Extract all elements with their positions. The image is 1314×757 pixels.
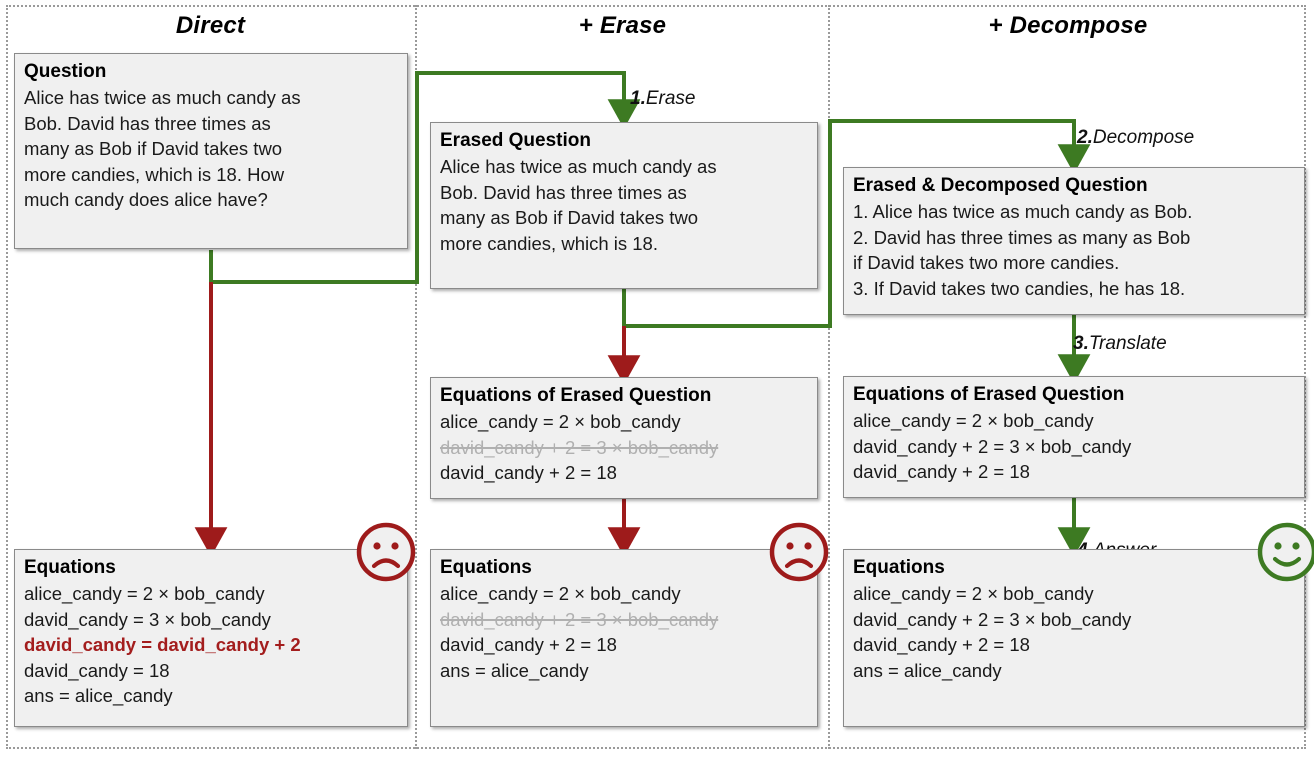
step-number-2: 2. bbox=[1077, 127, 1093, 148]
panel-question-header: Question bbox=[24, 59, 399, 85]
panel-equations-direct-header: Equations bbox=[24, 555, 399, 581]
panel-eq-erased-mid-header: Equations of Erased Question bbox=[440, 383, 809, 409]
panel-question-line: Alice has twice as much candy as bbox=[24, 85, 399, 111]
step-label-decompose: 2.Decompose bbox=[1077, 127, 1194, 149]
panel-erased-decomposed-line: if David takes two more candies. bbox=[853, 250, 1296, 276]
step-name-2: Decompose bbox=[1093, 127, 1194, 148]
step-label-translate: 3.Translate bbox=[1073, 333, 1167, 355]
panel-equations-decompose-header: Equations bbox=[853, 555, 1296, 581]
panel-erased-decomposed-line: 1. Alice has twice as much candy as Bob. bbox=[853, 199, 1296, 225]
equation-line: david_candy + 2 = 3 × bob_candy bbox=[853, 607, 1296, 633]
equation-line: david_candy = 3 × bob_candy bbox=[24, 607, 399, 633]
equation-line: david_candy + 2 = 18 bbox=[853, 632, 1296, 658]
column-title-decompose: + Decompose bbox=[830, 12, 1306, 40]
panel-erased-decomposed-question: Erased & Decomposed Question 1. Alice ha… bbox=[843, 167, 1305, 315]
panel-erased-question-line: Bob. David has three times as bbox=[440, 180, 809, 206]
column-divider-2 bbox=[828, 5, 830, 749]
equation-line: david_candy + 2 = 3 × bob_candy bbox=[853, 434, 1296, 460]
equation-line-struck: david_candy + 2 = 3 × bob_candy bbox=[440, 435, 809, 461]
panel-question-line: many as Bob if David takes two bbox=[24, 136, 399, 162]
panel-erased-decomposed-line: 3. If David takes two candies, he has 18… bbox=[853, 276, 1296, 302]
step-label-erase: 1.Erase bbox=[630, 88, 696, 110]
panel-equations-erase-header: Equations bbox=[440, 555, 809, 581]
equation-line: ans = alice_candy bbox=[440, 658, 809, 684]
equation-line: alice_candy = 2 × bob_candy bbox=[24, 581, 399, 607]
panel-equations-direct: Equations alice_candy = 2 × bob_candy da… bbox=[14, 549, 408, 727]
panel-erased-decomposed-line: 2. David has three times as many as Bob bbox=[853, 225, 1296, 251]
equation-line: david_candy + 2 = 18 bbox=[440, 632, 809, 658]
panel-erased-question-line: many as Bob if David takes two bbox=[440, 205, 809, 231]
panel-equations-of-erased-question-right: Equations of Erased Question alice_candy… bbox=[843, 376, 1305, 498]
panel-erased-question-line: more candies, which is 18. bbox=[440, 231, 809, 257]
equation-line: alice_candy = 2 × bob_candy bbox=[440, 409, 809, 435]
equation-line: david_candy + 2 = 18 bbox=[853, 459, 1296, 485]
step-number-3: 3. bbox=[1073, 333, 1089, 354]
equation-line: david_candy + 2 = 18 bbox=[440, 460, 809, 486]
column-divider-1 bbox=[415, 5, 417, 749]
happy-face-icon bbox=[1256, 521, 1314, 583]
panel-equations-erase: Equations alice_candy = 2 × bob_candy da… bbox=[430, 549, 818, 727]
equation-line: alice_candy = 2 × bob_candy bbox=[853, 581, 1296, 607]
sad-face-icon bbox=[355, 521, 417, 583]
panel-eq-erased-right-header: Equations of Erased Question bbox=[853, 382, 1296, 408]
column-title-direct: Direct bbox=[6, 12, 415, 40]
equation-line-error: david_candy = david_candy + 2 bbox=[24, 632, 399, 658]
panel-erased-question-header: Erased Question bbox=[440, 128, 809, 154]
equation-line: alice_candy = 2 × bob_candy bbox=[853, 408, 1296, 434]
diagram-canvas: Direct + Erase + Decompose 1.Erase bbox=[0, 0, 1314, 757]
panel-question-line: much candy does alice have? bbox=[24, 187, 399, 213]
panel-equations-of-erased-question-mid: Equations of Erased Question alice_candy… bbox=[430, 377, 818, 499]
equation-line: david_candy = 18 bbox=[24, 658, 399, 684]
panel-question: Question Alice has twice as much candy a… bbox=[14, 53, 408, 249]
panel-question-line: Bob. David has three times as bbox=[24, 111, 399, 137]
step-number-1: 1. bbox=[630, 88, 646, 109]
sad-face-icon bbox=[768, 521, 830, 583]
step-name-3: Translate bbox=[1089, 333, 1167, 354]
panel-question-line: more candies, which is 18. How bbox=[24, 162, 399, 188]
equation-line-struck: david_candy + 2 = 3 × bob_candy bbox=[440, 607, 809, 633]
column-title-erase: + Erase bbox=[417, 12, 828, 40]
step-name-1: Erase bbox=[646, 88, 696, 109]
panel-erased-question: Erased Question Alice has twice as much … bbox=[430, 122, 818, 289]
panel-erased-decomposed-header: Erased & Decomposed Question bbox=[853, 173, 1296, 199]
panel-erased-question-line: Alice has twice as much candy as bbox=[440, 154, 809, 180]
equation-line: alice_candy = 2 × bob_candy bbox=[440, 581, 809, 607]
equation-line: ans = alice_candy bbox=[853, 658, 1296, 684]
equation-line: ans = alice_candy bbox=[24, 683, 399, 709]
panel-equations-decompose: Equations alice_candy = 2 × bob_candy da… bbox=[843, 549, 1305, 727]
